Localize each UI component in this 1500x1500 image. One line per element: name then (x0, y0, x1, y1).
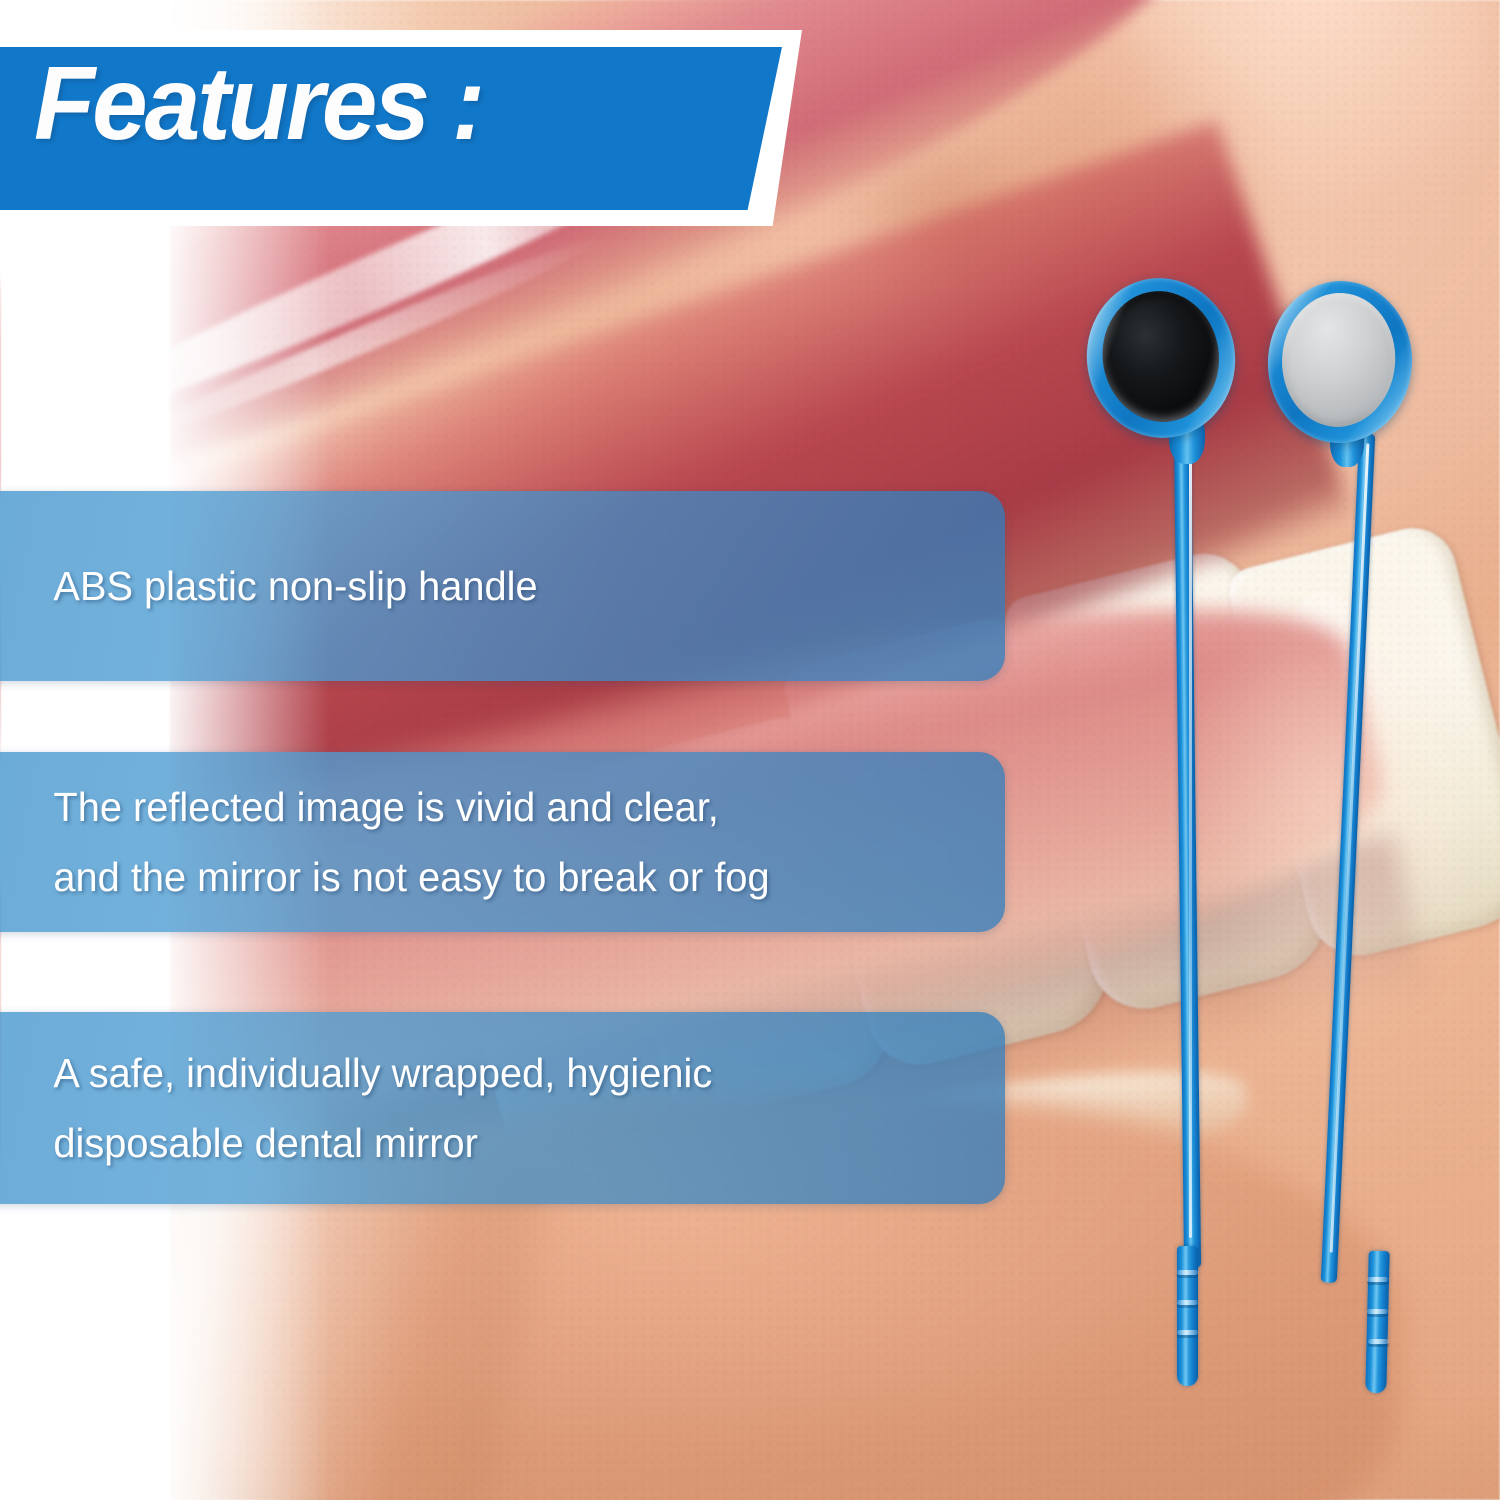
feature-box-hygienic-disposable: A safe, individually wrapped, hygienic d… (0, 1012, 1005, 1204)
feature-box-abs-plastic-handle: ABS plastic non-slip handle (0, 491, 1005, 681)
page-title: Features : (34, 52, 482, 156)
feature-text-line: ABS plastic non-slip handle (0, 551, 974, 621)
mirror-frame (1075, 267, 1246, 448)
mirror-frame (1263, 276, 1418, 448)
feature-text-line: The reflected image is vivid and clear, (0, 772, 974, 842)
dental-mirror-dark (1085, 278, 1245, 1408)
grip-ridge (1177, 1300, 1198, 1305)
feature-box-reflected-image-clarity: The reflected image is vivid and clear, … (0, 752, 1005, 932)
grip-ridge (1367, 1309, 1388, 1314)
handle-grip-section (1177, 1246, 1198, 1386)
feature-text-line: disposable dental mirror (0, 1108, 974, 1178)
grip-ridge (1177, 1270, 1198, 1275)
grip-ridge (1367, 1277, 1388, 1282)
feature-text-line: A safe, individually wrapped, hygienic (0, 1038, 974, 1108)
grip-ridge (1177, 1330, 1198, 1335)
grip-ridge (1368, 1339, 1389, 1344)
mirror-face-silver (1278, 289, 1400, 431)
handle-highlight (1189, 438, 1192, 1238)
dental-mirror-silver (1268, 281, 1428, 1411)
handle-grip-section (1365, 1251, 1389, 1393)
mirror-face-dark (1093, 283, 1228, 431)
product-feature-graphic: Features : ABS plastic non-slip handle T… (0, 0, 1500, 1500)
features-banner: Features : (0, 30, 802, 226)
feature-text-line: and the mirror is not easy to break or f… (0, 842, 974, 912)
handle-shaft (1174, 428, 1201, 1268)
handle-highlight (1330, 443, 1370, 1252)
